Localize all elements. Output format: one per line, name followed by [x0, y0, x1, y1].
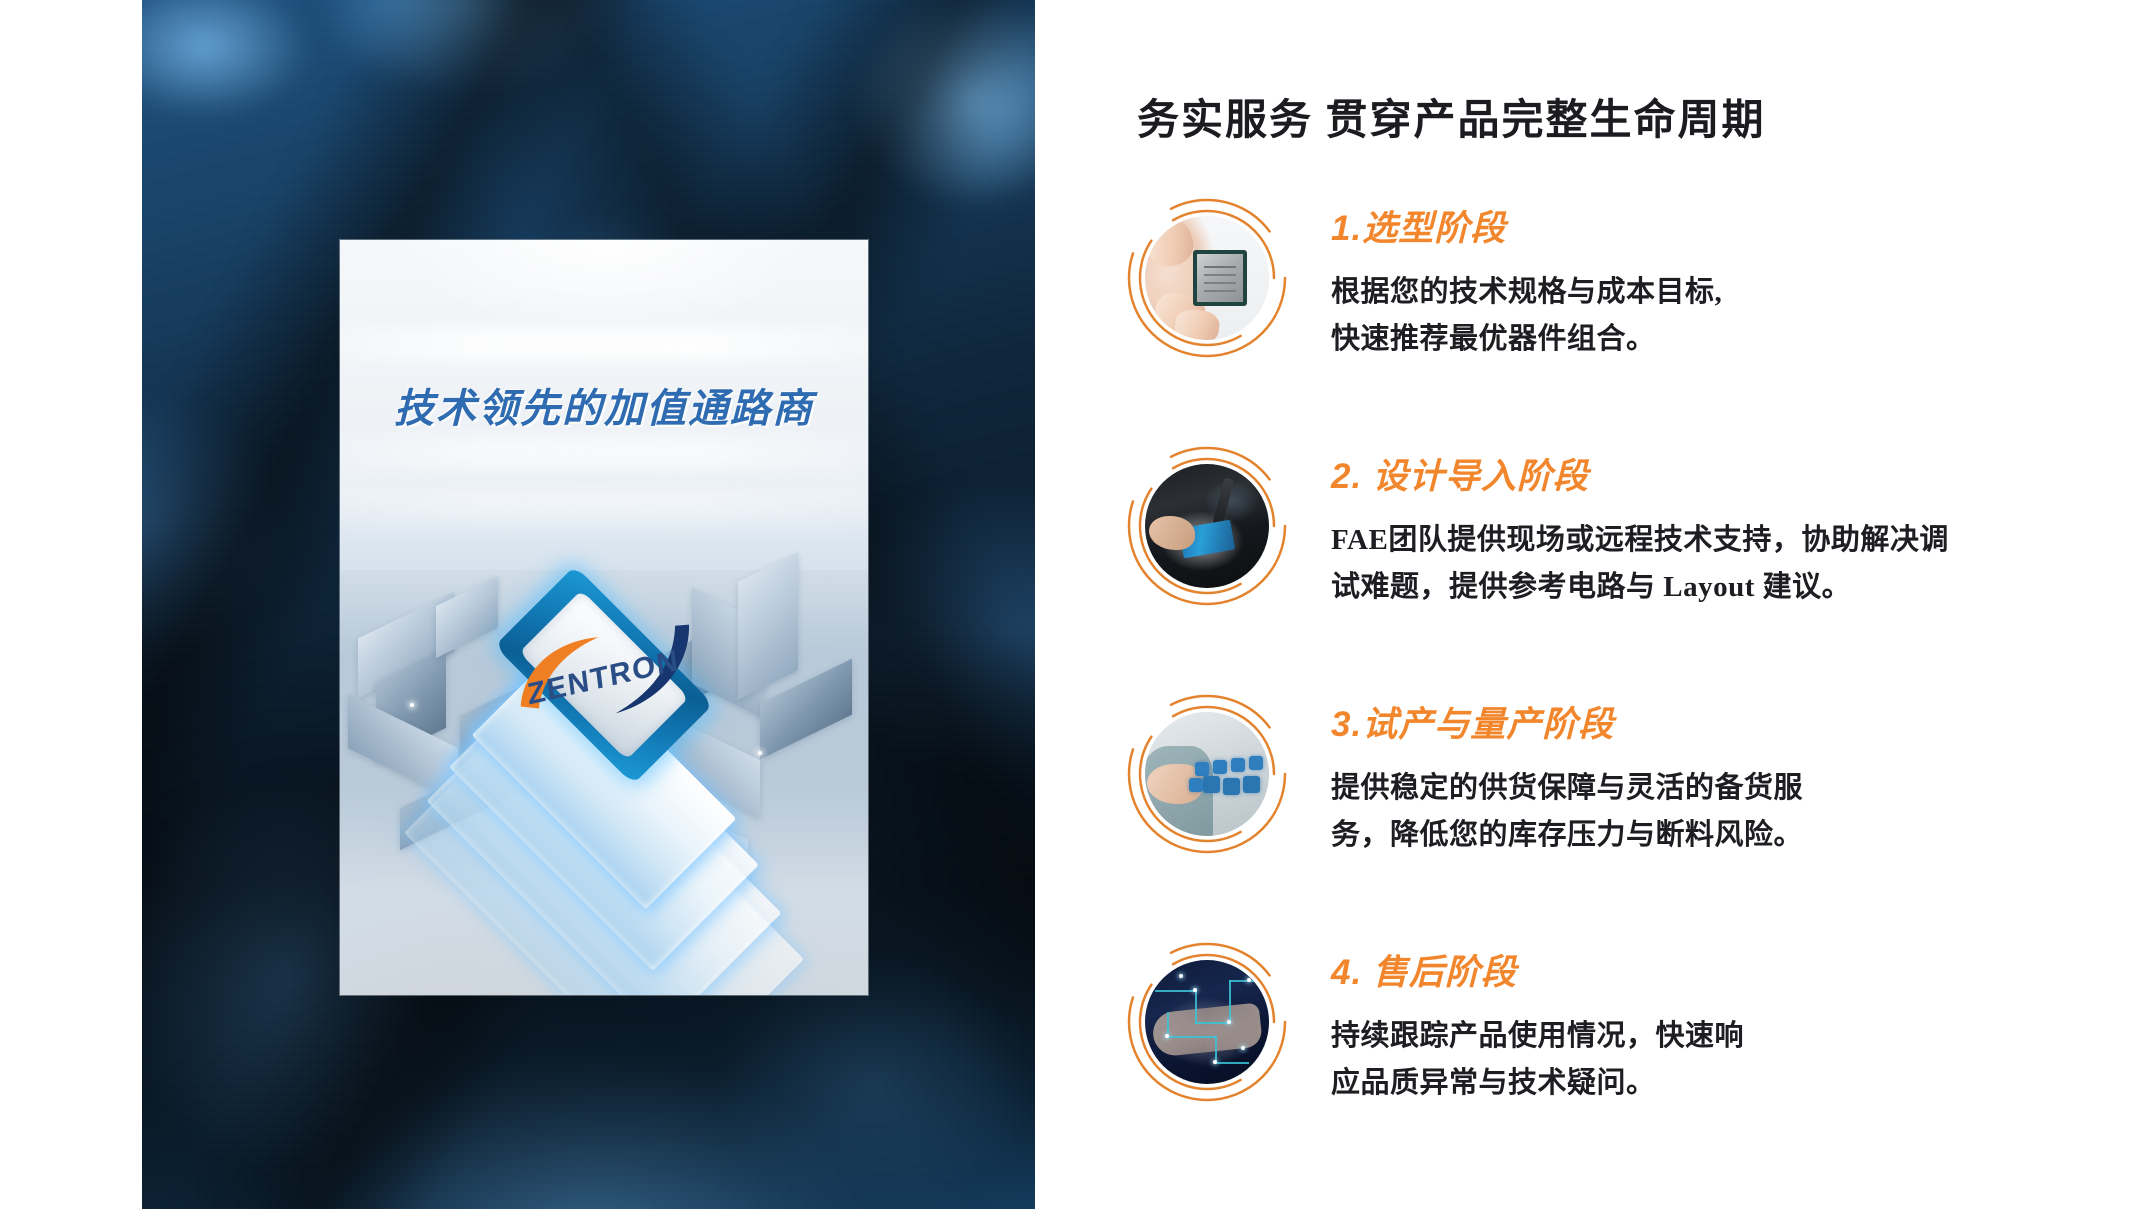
stage-item: 1.选型阶段 根据您的技术规格与成本目标, 快速推荐最优器件组合。 [1035, 196, 2139, 368]
stage-body-line: 根据您的技术规格与成本目标, [1331, 269, 2031, 316]
stage-title: 1.选型阶段 [1331, 200, 2139, 251]
stage-item: 2. 设计导入阶段 FAE团队提供现场或远程技术支持，协助解决调 试难题，提供参… [1035, 444, 2139, 616]
service-stage-list: 1.选型阶段 根据您的技术规格与成本目标, 快速推荐最优器件组合。 [1035, 196, 2139, 1112]
stage-body-line: 提供稳定的供货保障与灵活的备货服 [1331, 765, 2031, 812]
stage-badge-2 [1131, 450, 1283, 602]
haze-streak-mid [340, 436, 868, 470]
stage-title: 4. 售后阶段 [1331, 944, 2139, 995]
stage-text-2: 2. 设计导入阶段 FAE团队提供现场或远程技术支持，协助解决调 试难题，提供参… [1283, 444, 2139, 611]
handshake-circuit-overlay-photo [1145, 960, 1269, 1084]
cpu-chip-graphic: ZENTRON [444, 570, 764, 780]
hand-touching-app-icons-photo [1145, 712, 1269, 836]
left-panel-slogan: 技术领先的加值通路商 [340, 376, 868, 434]
stage-body-line: 持续跟踪产品使用情况，快速响 [1331, 1013, 2031, 1060]
stage-body: FAE团队提供现场或远程技术支持，协助解决调 试难题，提供参考电路与 Layou… [1331, 517, 2031, 611]
stage-title: 3.试产与量产阶段 [1331, 696, 2139, 747]
slide-root: ZENTRON 技术领先的加值通路商 务实服务 贯穿产品完整生命周期 [0, 0, 2139, 1209]
stage-body-line: 快速推荐最优器件组合。 [1331, 316, 2031, 363]
stage-item: 4. 售后阶段 持续跟踪产品使用情况，快速响 应品质异常与技术疑问。 [1035, 940, 2139, 1112]
stage-body: 持续跟踪产品使用情况，快速响 应品质异常与技术疑问。 [1331, 1013, 2031, 1107]
svg-text:ZENTRON: ZENTRON [526, 644, 682, 712]
hand-holding-cpu-photo [1145, 216, 1269, 340]
left-visual-panel: ZENTRON 技术领先的加值通路商 [142, 0, 1035, 1209]
stage-body-line: FAE团队提供现场或远程技术支持，协助解决调 [1331, 517, 2031, 564]
stage-body-line: 试难题，提供参考电路与 Layout 建议。 [1331, 564, 2031, 611]
right-content-panel: 务实服务 贯穿产品完整生命周期 [1035, 0, 2139, 1209]
stage-text-1: 1.选型阶段 根据您的技术规格与成本目标, 快速推荐最优器件组合。 [1283, 196, 2139, 363]
haze-streak-top [340, 328, 868, 362]
stage-item: 3.试产与量产阶段 提供稳定的供货保障与灵活的备货服 务，降低您的库存压力与断料… [1035, 692, 2139, 864]
stage-body: 根据您的技术规格与成本目标, 快速推荐最优器件组合。 [1331, 269, 2031, 363]
stage-badge-1 [1131, 202, 1283, 354]
soldering-pcb-bench-photo [1145, 464, 1269, 588]
stage-text-3: 3.试产与量产阶段 提供稳定的供货保障与灵活的备货服 务，降低您的库存压力与断料… [1283, 692, 2139, 859]
stage-badge-4 [1131, 946, 1283, 1098]
stage-body-line: 务，降低您的库存压力与断料风险。 [1331, 812, 2031, 859]
product-key-visual-card: ZENTRON 技术领先的加值通路商 [340, 240, 868, 995]
page-title: 务实服务 贯穿产品完整生命周期 [1137, 86, 1766, 147]
stage-badge-3 [1131, 698, 1283, 850]
stage-body: 提供稳定的供货保障与灵活的备货服 务，降低您的库存压力与断料风险。 [1331, 765, 2031, 859]
stage-body-line: 应品质异常与技术疑问。 [1331, 1060, 2031, 1107]
stage-title: 2. 设计导入阶段 [1331, 448, 2139, 499]
stage-text-4: 4. 售后阶段 持续跟踪产品使用情况，快速响 应品质异常与技术疑问。 [1283, 940, 2139, 1107]
